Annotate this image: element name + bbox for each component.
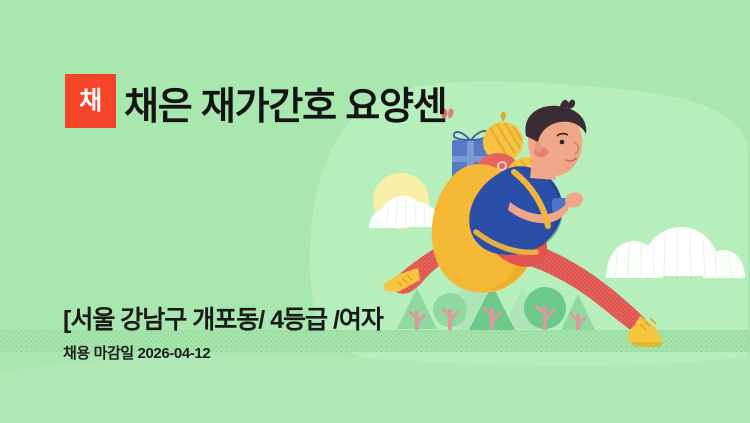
company-logo-initial: 채 [79,89,102,114]
application-deadline: 채용 마감일 2026-04-12 [63,342,210,363]
company-logo-badge: 채 [65,74,116,128]
job-posting-card: 채 채은 재가간호 요양센 [서울 강남구 개포동/ 4등급 /여자 채용 마감… [0,0,750,423]
page-title: 채은 재가간호 요양센 [124,74,554,130]
text-overlay: 채 채은 재가간호 요양센 [서울 강남구 개포동/ 4등급 /여자 채용 마감… [0,0,750,423]
job-location-grade-gender: [서울 강남구 개포동/ 4등급 /여자 [63,300,383,336]
